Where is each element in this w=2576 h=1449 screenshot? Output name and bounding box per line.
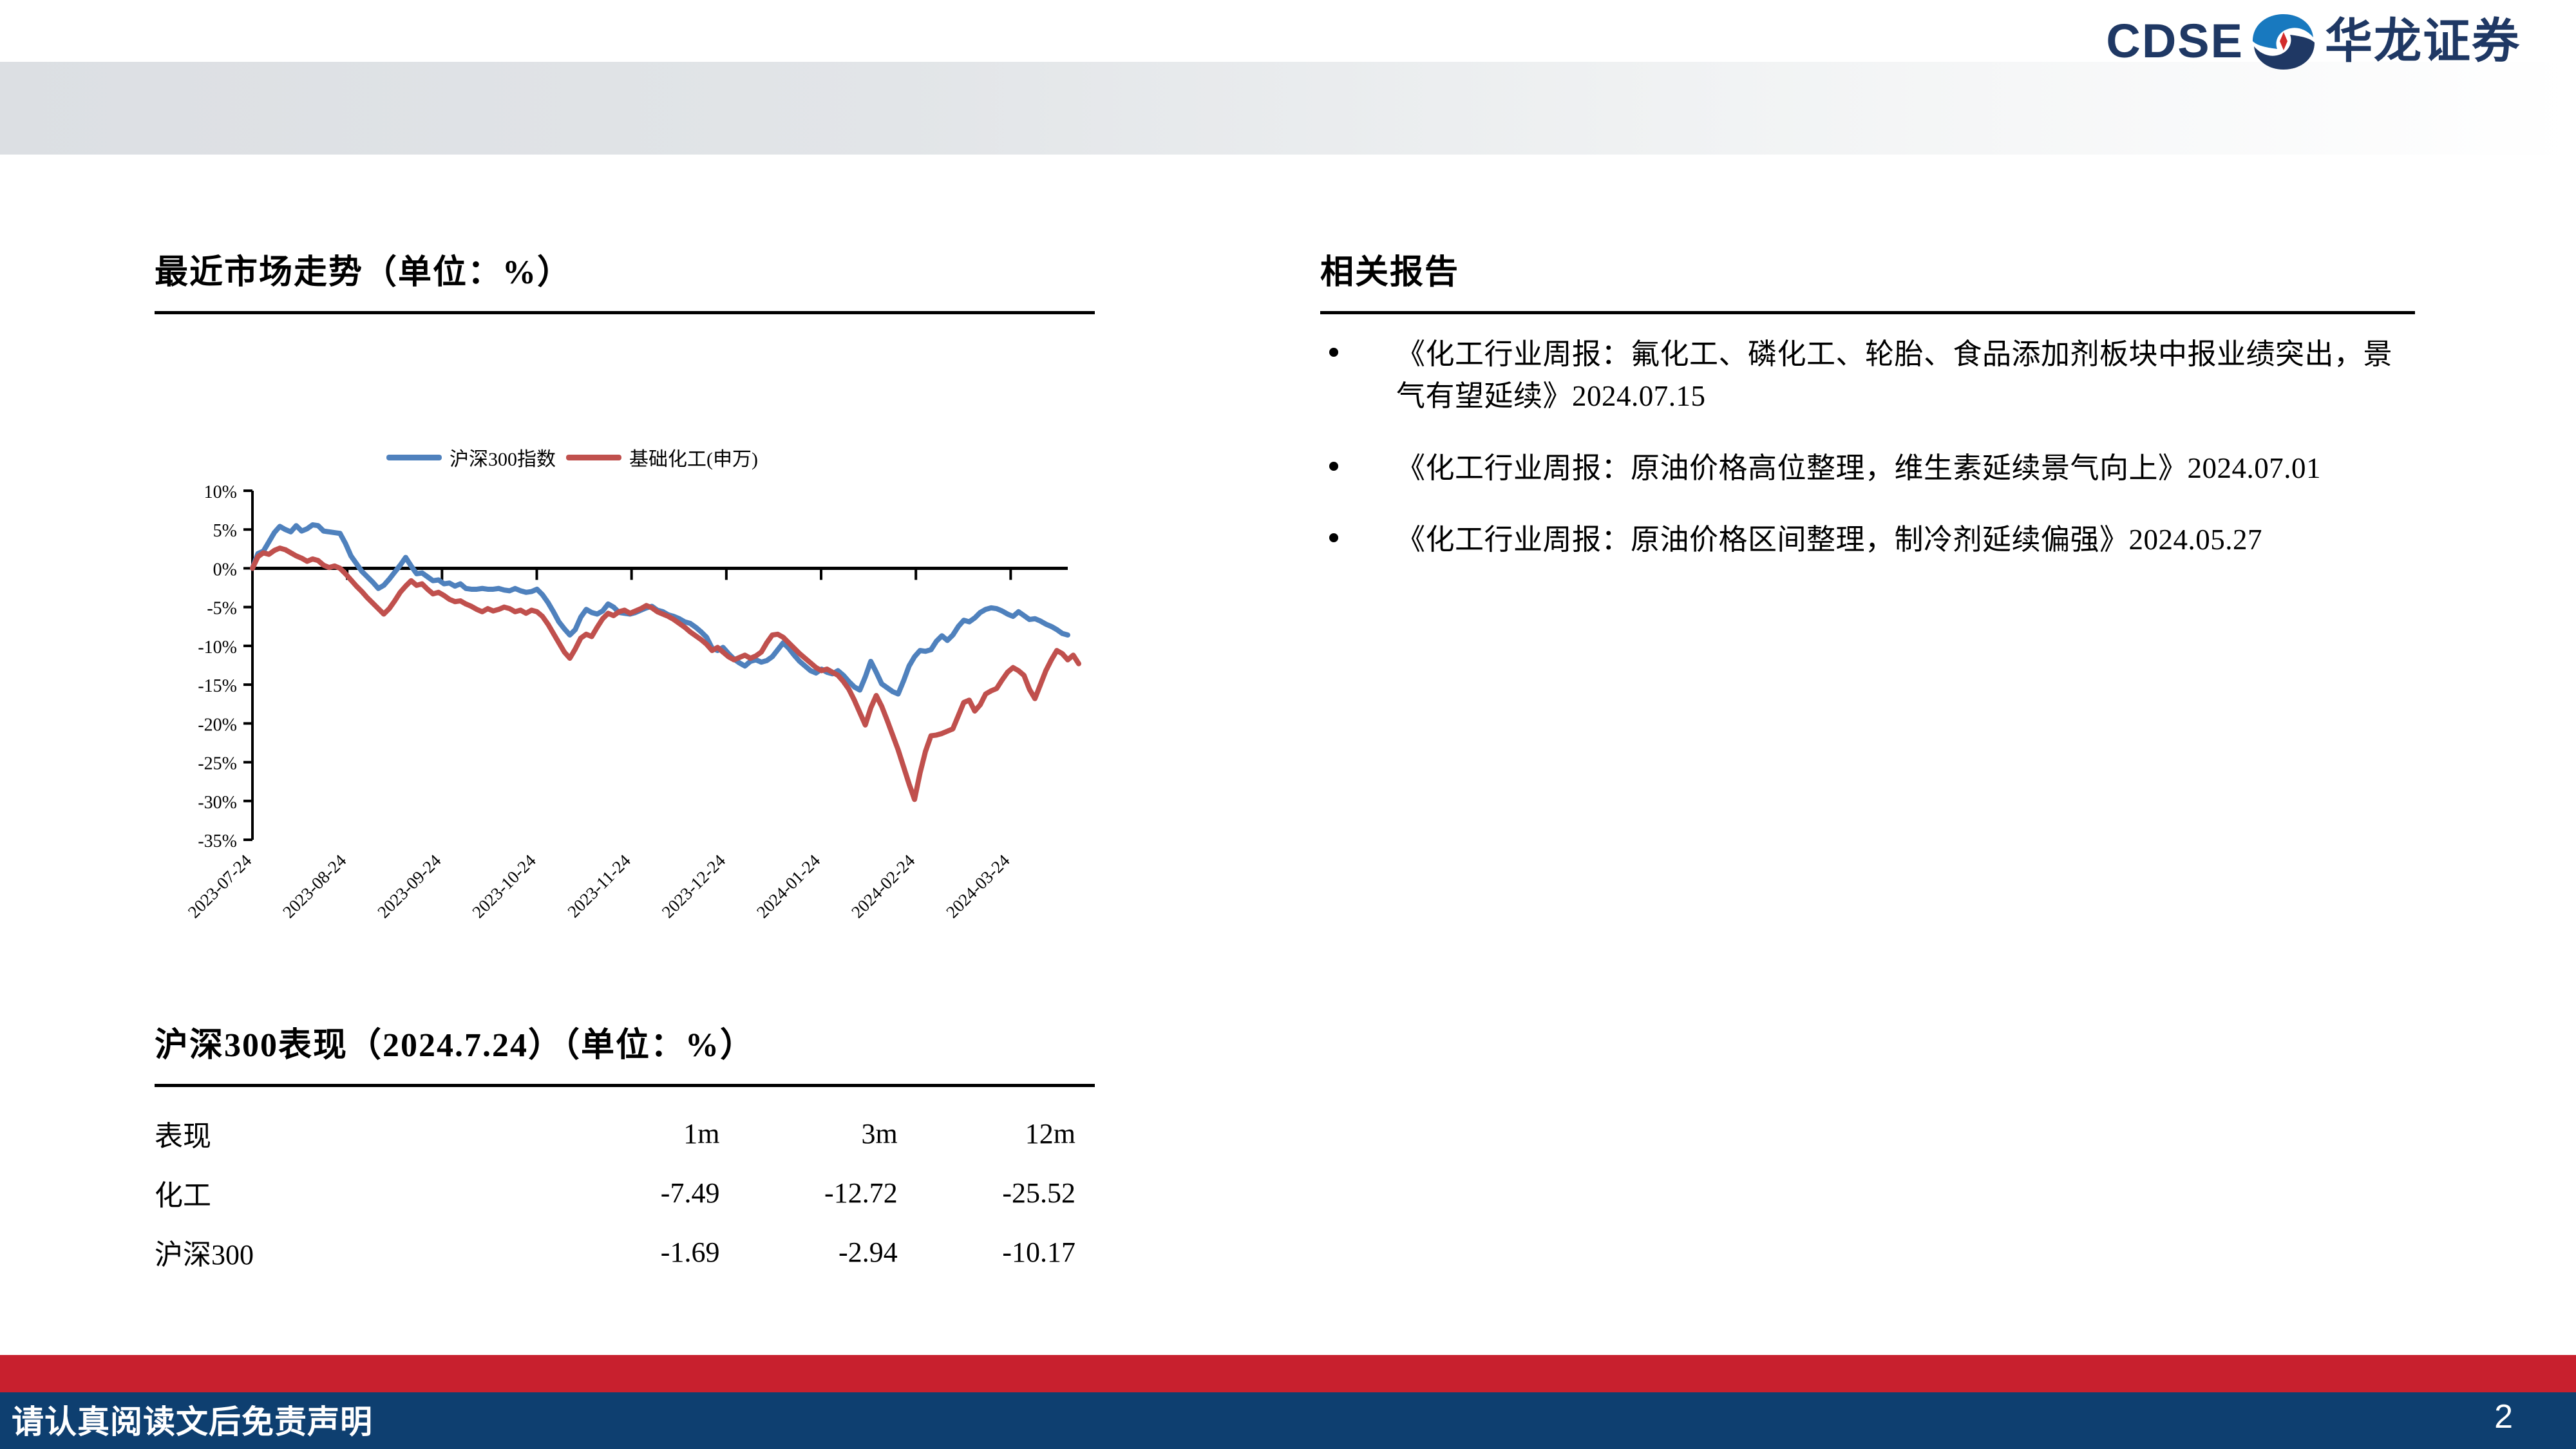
market-trend-chart: 沪深300指数 基础化工(申万) 10%5%0%-5%-10%-15%-20%-… xyxy=(155,326,1095,931)
svg-text:10%: 10% xyxy=(204,482,237,502)
row-label-chemicals: 化工 xyxy=(155,1163,542,1222)
reports-section-title: 相关报告 xyxy=(1320,245,2415,293)
column-header-metric: 表现 xyxy=(155,1104,542,1163)
svg-text:-15%: -15% xyxy=(198,676,237,696)
list-item[interactable]: 《化工行业周报：原油价格区间整理，制冷剂延续偏强》2024.05.27 xyxy=(1320,519,2415,561)
hs300-performance-section: 沪深300表现（2024.7.24）（单位：%） 表现 1m 3m 12m 化工… xyxy=(155,1018,1095,1282)
reports-title-rule xyxy=(1320,311,2415,314)
legend-swatch-chemicals xyxy=(566,455,621,460)
column-header-12m: 12m xyxy=(898,1104,1075,1163)
chart-title-rule xyxy=(155,311,1095,314)
report-title: 《化工行业周报：原油价格高位整理，维生素延续景气向上》2024.07.01 xyxy=(1396,452,2321,484)
svg-text:0%: 0% xyxy=(213,560,237,580)
svg-text:-10%: -10% xyxy=(198,638,237,658)
cell-chemicals-12m: -25.52 xyxy=(898,1163,1075,1222)
related-reports-section: 相关报告 《化工行业周报：氟化工、磷化工、轮胎、食品添加剂板块中报业绩突出，景气… xyxy=(1320,245,2415,591)
svg-text:-30%: -30% xyxy=(198,793,237,813)
chart-legend: 沪深300指数 基础化工(申万) xyxy=(386,443,758,471)
legend-label-chemicals: 基础化工(申万) xyxy=(629,443,758,471)
performance-table: 表现 1m 3m 12m 化工 -7.49 -12.72 -25.52 沪深30… xyxy=(155,1104,1075,1282)
svg-text:-20%: -20% xyxy=(198,715,237,735)
svg-text:2023-07-24: 2023-07-24 xyxy=(184,851,256,922)
column-header-1m: 1m xyxy=(542,1104,719,1163)
row-label-hs300: 沪深300 xyxy=(155,1222,542,1282)
chart-section-title: 最近市场走势（单位：%） xyxy=(155,245,1095,293)
bullet-icon xyxy=(1329,533,1338,542)
table-row: 化工 -7.49 -12.72 -25.52 xyxy=(155,1163,1075,1222)
company-logo: CDSE 华龙证券 xyxy=(2106,12,2521,71)
column-header-3m: 3m xyxy=(719,1104,897,1163)
bullet-icon xyxy=(1329,348,1338,357)
bullet-icon xyxy=(1329,462,1338,471)
logo-wordmark-cdse: CDSE xyxy=(2106,17,2244,65)
header-band xyxy=(0,62,2576,155)
list-item[interactable]: 《化工行业周报：原油价格高位整理，维生素延续景气向上》2024.07.01 xyxy=(1320,448,2415,489)
svg-text:2023-08-24: 2023-08-24 xyxy=(279,851,350,922)
svg-text:2023-11-24: 2023-11-24 xyxy=(563,851,634,922)
cell-chemicals-3m: -12.72 xyxy=(719,1163,897,1222)
chart-plot-area: 10%5%0%-5%-10%-15%-20%-25%-30%-35%2023-0… xyxy=(155,479,1095,930)
cell-hs300-3m: -2.94 xyxy=(719,1222,897,1282)
table-title-rule xyxy=(155,1084,1095,1087)
footer-red-band xyxy=(0,1355,2576,1392)
svg-text:-5%: -5% xyxy=(207,599,237,619)
page-number: 2 xyxy=(2494,1397,2513,1436)
related-reports-list: 《化工行业周报：氟化工、磷化工、轮胎、食品添加剂板块中报业绩突出，景气有望延续》… xyxy=(1320,334,2415,561)
legend-item-hs300: 沪深300指数 xyxy=(386,443,556,471)
svg-text:-25%: -25% xyxy=(198,754,237,774)
cell-hs300-12m: -10.17 xyxy=(898,1222,1075,1282)
legend-item-chemicals: 基础化工(申万) xyxy=(566,443,758,471)
svg-text:-35%: -35% xyxy=(198,831,237,851)
svg-text:2023-09-24: 2023-09-24 xyxy=(374,851,445,922)
market-trend-section: 最近市场走势（单位：%） 沪深300指数 基础化工(申万) 10%5%0%-5%… xyxy=(155,245,1095,931)
svg-text:2024-03-24: 2024-03-24 xyxy=(942,851,1014,922)
svg-text:2024-01-24: 2024-01-24 xyxy=(753,851,824,922)
report-title: 《化工行业周报：原油价格区间整理，制冷剂延续偏强》2024.05.27 xyxy=(1396,524,2262,556)
footer-navy-band: 请认真阅读文后免责声明 2 xyxy=(0,1392,2576,1449)
table-section-title: 沪深300表现（2024.7.24）（单位：%） xyxy=(155,1018,1095,1066)
table-header-row: 表现 1m 3m 12m xyxy=(155,1104,1075,1163)
report-title: 《化工行业周报：氟化工、磷化工、轮胎、食品添加剂板块中报业绩突出，景气有望延续》… xyxy=(1396,338,2392,412)
svg-text:5%: 5% xyxy=(213,521,237,541)
cell-chemicals-1m: -7.49 xyxy=(542,1163,719,1222)
logo-wordmark-chinese: 华龙证券 xyxy=(2325,17,2521,65)
legend-label-hs300: 沪深300指数 xyxy=(450,443,556,471)
svg-text:2023-12-24: 2023-12-24 xyxy=(658,851,730,922)
svg-text:2023-10-24: 2023-10-24 xyxy=(468,851,540,922)
footer-disclaimer: 请认真阅读文后免责声明 xyxy=(12,1396,373,1443)
cdse-swoosh-logo-icon xyxy=(2249,12,2318,71)
cell-hs300-1m: -1.69 xyxy=(542,1222,719,1282)
list-item[interactable]: 《化工行业周报：氟化工、磷化工、轮胎、食品添加剂板块中报业绩突出，景气有望延续》… xyxy=(1320,334,2415,418)
table-row: 沪深300 -1.69 -2.94 -10.17 xyxy=(155,1222,1075,1282)
svg-text:2024-02-24: 2024-02-24 xyxy=(848,851,919,922)
legend-swatch-hs300 xyxy=(386,455,442,460)
